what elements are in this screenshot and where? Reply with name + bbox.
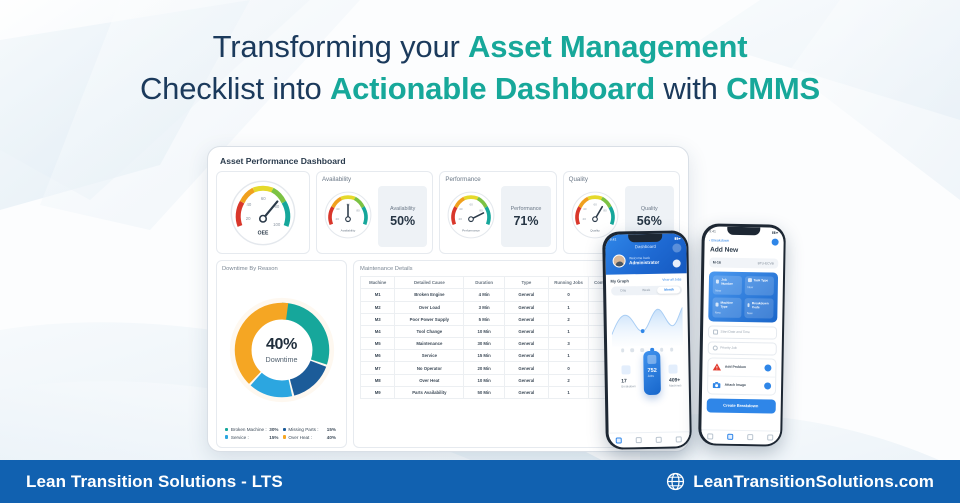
list-item[interactable]: Attach Image (707, 375, 774, 394)
svg-text:60: 60 (261, 196, 266, 201)
phone-right-tabbar (701, 429, 780, 444)
kpi-card-performance: Performance 20 40 60 80 (439, 171, 556, 254)
dot-icon[interactable] (621, 349, 625, 353)
col-header-type: Type (504, 277, 548, 289)
task-icon (747, 278, 751, 282)
machine-icon (715, 302, 719, 306)
cell-cause: Broken Engine (395, 289, 464, 301)
cell-running: 1 (548, 301, 589, 313)
footer-url-text: LeanTransitionSolutions.com (693, 472, 934, 492)
tab-more-icon[interactable] (676, 436, 682, 442)
machine-summary-row: M-16 BTU-ECVB (709, 257, 778, 268)
cell-running: 3 (548, 338, 589, 350)
field-breakdown-code[interactable]: Breakdown Code New (744, 298, 773, 318)
headline: Transforming your Asset Management Check… (0, 28, 960, 108)
clipboard-icon (647, 355, 656, 364)
cell-running: 1 (548, 325, 589, 337)
cell-machine: M8 (361, 374, 395, 386)
tile-label: Breakdown (621, 384, 636, 388)
kpi-name: Quality (641, 206, 658, 212)
field-job-number[interactable]: Job Number New (712, 275, 741, 295)
tab-more-icon[interactable] (767, 434, 773, 440)
phone-notch (628, 233, 662, 242)
cell-type: General (504, 301, 548, 313)
status-icons: ▮▮▰ (674, 236, 680, 240)
priority-field[interactable]: Priority Job (707, 341, 776, 355)
cell-cause: Maintenance (395, 338, 464, 350)
svg-text:80: 80 (480, 208, 484, 212)
footer-brand: Lean Transition Solutions - LTS (26, 472, 283, 492)
kpi-value-box: Performance 71% (501, 186, 550, 247)
back-link[interactable]: ‹ Breakdown (709, 238, 729, 242)
svg-text:40: 40 (246, 201, 251, 206)
back-label: Breakdown (711, 238, 729, 242)
cell-machine: M7 (361, 362, 395, 374)
donut-chart: 40% Downtime (222, 274, 341, 425)
status-time: 9:41 (610, 237, 617, 241)
kpi-name: Performance (511, 206, 542, 212)
svg-text:Availability: Availability (341, 228, 356, 232)
cell-machine: M9 (361, 386, 395, 398)
cell-cause: No Operator (395, 362, 464, 374)
cell-duration: 50 Min (464, 386, 505, 398)
svg-text:20: 20 (246, 216, 251, 221)
oee-gauge-card: 20 40 60 80 100 OEE (216, 171, 310, 254)
field-machine-type[interactable]: Machine Type New (712, 297, 741, 317)
col-header-detailed-cause: Detailed Cause (395, 277, 464, 289)
globe-icon (666, 472, 685, 491)
col-header-running-jobs: Running Jobs (548, 277, 589, 289)
svg-text:40: 40 (336, 206, 340, 210)
legend-item: Service : 15% (225, 435, 283, 440)
donut-card-title: Downtime By Reason (222, 266, 341, 272)
cell-type: General (504, 325, 548, 337)
cell-cause: Parts Availability (395, 386, 464, 398)
svg-text:100: 100 (273, 221, 281, 226)
legend-value: 40% (327, 435, 340, 440)
field-label: Machine Type (720, 300, 738, 308)
kpi-value: 71% (513, 214, 538, 228)
cell-cause: Poor Power Supply (395, 313, 464, 325)
tab-search-icon[interactable] (636, 437, 642, 443)
field-label: Task Type (753, 278, 768, 282)
tile-jobs[interactable]: 752 Jobs (643, 351, 661, 395)
phone-left-tabbar (608, 431, 689, 447)
job-icon (715, 280, 719, 284)
headline-text-actionable-dashboard: Actionable Dashboard (330, 71, 655, 106)
tab-history-icon[interactable] (656, 436, 662, 442)
clock-icon (712, 345, 717, 350)
legend-value: 30% (269, 427, 282, 432)
cell-type: General (504, 338, 548, 350)
cell-machine: M3 (361, 313, 395, 325)
phone-left-body: My Graph View all Jobs Day Week Month (605, 273, 688, 400)
svg-text:20: 20 (336, 217, 340, 221)
field-value: New (715, 311, 738, 315)
cell-running: 0 (548, 362, 589, 374)
create-breakdown-button[interactable]: Create Breakdown (706, 398, 775, 413)
cell-type: General (504, 289, 548, 301)
notification-icon[interactable] (672, 259, 680, 267)
legend-label: Over Heat : (288, 435, 312, 440)
cell-duration: 10 Min (464, 374, 505, 386)
period-segmented-control[interactable]: Day Week Month (611, 285, 682, 296)
headline-text-cmms: CMMS (726, 71, 820, 106)
page-title: Add New (704, 246, 783, 258)
legend-value: 15% (327, 427, 340, 432)
start-datetime-field[interactable]: Start Date and Time (707, 325, 776, 339)
field-value: New (747, 285, 770, 289)
cell-machine: M1 (361, 289, 395, 301)
kpi-name: Availability (390, 206, 415, 212)
headline-text-checklist-into: Checklist into (140, 71, 330, 106)
oee-gauge-icon: 20 40 60 80 100 OEE (227, 177, 299, 249)
dashboard-title: Asset Performance Dashboard (216, 154, 680, 171)
list-item[interactable]: Add Problem (708, 358, 775, 376)
svg-text:60: 60 (593, 202, 597, 206)
downtime-by-reason-card: Downtime By Reason 40% Downtime (216, 260, 347, 448)
phone-notch (727, 226, 760, 235)
kpi-value: 56% (637, 214, 662, 228)
tile-machines[interactable]: 409+ Machines (665, 360, 686, 398)
cell-running: 0 (548, 289, 589, 301)
cell-type: General (504, 350, 548, 362)
legend-value: 15% (269, 435, 282, 440)
cell-running: 1 (548, 386, 589, 398)
cell-duration: 15 Min (464, 350, 505, 362)
gear-icon (669, 364, 678, 373)
legend-item: Broken Machine : 30% (225, 427, 283, 432)
headline-line-1: Transforming your Asset Management (0, 28, 960, 66)
svg-text:20: 20 (582, 217, 586, 221)
add-icon[interactable] (764, 364, 771, 371)
cell-machine: M5 (361, 338, 395, 350)
kpi-card-availability: Availability 20 40 60 80 (316, 171, 433, 254)
donut-center-label: 40% Downtime (222, 336, 341, 364)
attachment-list: Add Problem Attach Image (706, 357, 776, 395)
phone-mockup-dashboard: 9:41 ▮▮▰ Dashboard Welcome back Administ… (602, 230, 692, 449)
gear-icon[interactable] (771, 238, 778, 245)
field-task-type[interactable]: Task Type New (744, 276, 773, 296)
cell-duration: 4 Min (464, 289, 505, 301)
code-icon (747, 303, 750, 307)
cell-machine: M2 (361, 301, 395, 313)
trend-line-chart (611, 298, 683, 347)
cell-duration: 3 Min (464, 301, 505, 313)
svg-text:20: 20 (459, 217, 463, 221)
legend-label: Service : (231, 435, 249, 440)
cell-running: 2 (548, 374, 589, 386)
cell-type: General (504, 374, 548, 386)
tile-breakdown[interactable]: 17 Breakdown (617, 361, 640, 399)
machine-serial: BTU-ECVB (758, 261, 774, 265)
legend-color-swatch (225, 428, 228, 431)
legend-label: Broken Machine : (231, 427, 267, 432)
col-header-machine: Machine (361, 277, 395, 289)
cell-running: 2 (548, 313, 589, 325)
status-time: 9:41 (709, 229, 716, 233)
kpi-card-title: Performance (445, 176, 550, 183)
legend-item: Over Heat : 40% (283, 435, 341, 440)
cell-type: General (504, 313, 548, 325)
cell-duration: 10 Min (464, 325, 505, 337)
cell-cause: Service (395, 350, 464, 362)
tab-list-icon[interactable] (747, 434, 753, 440)
camera-icon (712, 380, 721, 389)
cell-type: General (504, 386, 548, 398)
wrench-icon (621, 365, 630, 374)
phone-mockup-add-new: 9:41 ▮▮▰ ‹ Breakdown Add New M-16 BTU-EC… (698, 223, 786, 446)
donut-center-value: 40% (222, 336, 341, 354)
cell-duration: 20 Min (464, 362, 505, 374)
headline-text-with: with (655, 71, 726, 106)
calendar-icon (713, 329, 718, 334)
kpi-value: 50% (390, 214, 415, 228)
availability-gauge-icon: 20 40 60 80 Availability (322, 189, 374, 246)
svg-text:Performance: Performance (462, 228, 480, 232)
field-value: New (747, 311, 770, 315)
kpi-card-title: Availability (322, 176, 427, 183)
dot-icon[interactable] (631, 349, 635, 353)
list-item-label: Add Problem (725, 365, 760, 370)
cell-cause: Tool Change (395, 325, 464, 337)
cell-cause: Over Load (395, 301, 464, 313)
tile-label: Jobs (648, 374, 657, 378)
cell-type: General (504, 362, 548, 374)
user-name: Administrator (629, 259, 659, 265)
field-label: Job Number (721, 278, 738, 286)
graph-section-header: My Graph View all Jobs (610, 277, 681, 283)
segment-day[interactable]: Day (612, 287, 635, 295)
cell-duration: 5 Min (464, 313, 505, 325)
tile-label: Machines (669, 383, 681, 387)
headline-line-2: Checklist into Actionable Dashboard with… (0, 70, 960, 108)
field-value: New (715, 288, 738, 292)
legend-color-swatch (225, 435, 228, 438)
svg-text:40: 40 (583, 206, 587, 210)
summary-tiles: 17 Breakdown 752 Jobs 409+ Machines (612, 354, 684, 399)
cell-running: 1 (548, 350, 589, 362)
field-label: Breakdown Code (752, 301, 770, 309)
list-item-label: Attach Image (725, 383, 760, 388)
dot-icon[interactable] (670, 348, 674, 352)
view-all-jobs-link[interactable]: View all Jobs (662, 277, 681, 281)
tab-home-icon[interactable] (615, 437, 621, 443)
status-icons: ▮▮▰ (772, 230, 778, 234)
menu-icon[interactable] (672, 243, 681, 252)
oee-gauge-label: OEE (258, 230, 269, 236)
kpi-value-box: Availability 50% (378, 186, 427, 247)
legend-color-swatch (283, 435, 286, 438)
dot-icon[interactable] (660, 348, 664, 352)
headline-text-transforming: Transforming your (213, 29, 468, 64)
svg-text:60: 60 (470, 202, 474, 206)
legend-item: Missing Parts : 15% (283, 427, 341, 432)
dot-icon[interactable] (640, 349, 644, 353)
start-datetime-placeholder: Start Date and Time (721, 330, 750, 335)
breakdown-fields-grid: Job Number New Task Type New Machine Typ… (708, 271, 778, 322)
legend-color-swatch (283, 428, 286, 431)
tab-add-icon[interactable] (727, 434, 733, 440)
priority-placeholder: Priority Job (720, 346, 737, 350)
kpi-card-title: Quality (569, 176, 674, 183)
col-header-duration: Duration (464, 277, 505, 289)
cell-cause: Over Heat (395, 374, 464, 386)
donut-legend: Broken Machine : 30% Missing Parts : 15%… (222, 425, 341, 443)
donut-center-sublabel: Downtime (222, 355, 341, 364)
avatar (612, 254, 625, 267)
svg-text:80: 80 (356, 208, 360, 212)
tab-home-icon[interactable] (708, 433, 714, 439)
add-icon[interactable] (764, 382, 771, 389)
headline-text-asset-management: Asset Management (468, 29, 747, 64)
svg-text:40: 40 (459, 206, 463, 210)
footer-website[interactable]: LeanTransitionSolutions.com (666, 472, 934, 492)
cell-machine: M6 (361, 350, 395, 362)
segment-week[interactable]: Week (635, 286, 658, 294)
machine-code: M-16 (713, 260, 721, 264)
performance-gauge-icon: 20 40 60 80 Performance (445, 189, 497, 246)
cell-duration: 30 Min (464, 338, 505, 350)
svg-text:Quality: Quality (590, 228, 600, 232)
svg-text:80: 80 (603, 208, 607, 212)
footer-bar: Lean Transition Solutions - LTS LeanTran… (0, 460, 960, 503)
segment-month[interactable]: Month (658, 286, 681, 294)
warning-icon (712, 362, 721, 371)
cell-machine: M4 (361, 325, 395, 337)
legend-label: Missing Parts : (288, 427, 318, 432)
graph-section-title: My Graph (610, 278, 629, 283)
